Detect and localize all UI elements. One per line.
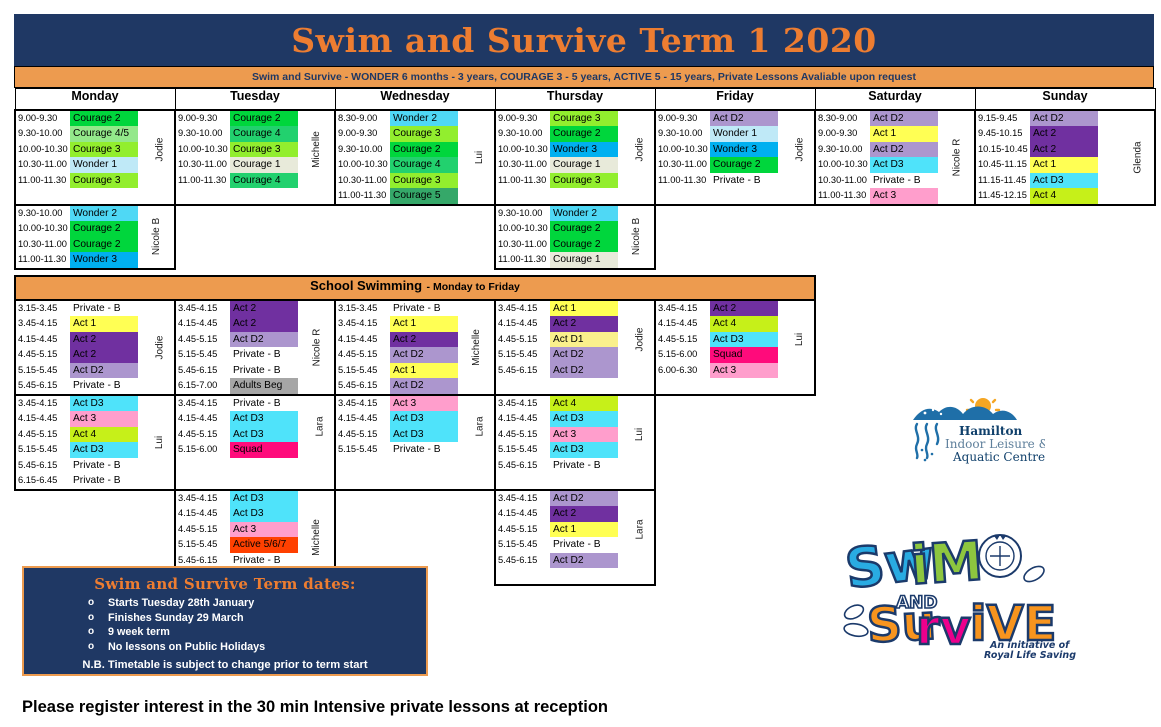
session-time: 4.45-5.15 xyxy=(16,347,70,363)
day-cell-saturday xyxy=(815,300,975,395)
session-row[interactable]: 3.45-4.15Act 3 xyxy=(336,396,466,412)
session-time: 5.45-6.15 xyxy=(16,458,70,474)
session-class: Courage 2 xyxy=(550,237,618,253)
session-class: Act 2 xyxy=(230,316,298,332)
day-cell-wednesday xyxy=(335,205,495,269)
timetable: MondayTuesdayWednesdayThursdayFridaySatu… xyxy=(14,88,1156,586)
session-time: 4.15-4.45 xyxy=(16,411,70,427)
session-row[interactable]: 3.15-3.45Private - B xyxy=(336,301,458,317)
timetable-page: Swim and Survive Term 1 2020 Swim and Su… xyxy=(0,0,1161,727)
session-class: Act 1 xyxy=(390,316,458,332)
session-row[interactable]: 10.00-10.30Wonder 3 xyxy=(656,142,786,158)
session-class: Act 2 xyxy=(390,332,458,348)
session-time: 9.30-10.00 xyxy=(816,142,870,158)
school-swimming-title: School Swimming xyxy=(310,278,422,293)
session-row[interactable]: 5.15-5.45Private - B xyxy=(336,442,466,458)
session-row[interactable]: 9.30-10.00Courage 2 xyxy=(496,126,626,142)
session-time: 10.30-11.00 xyxy=(656,157,710,173)
session-row[interactable]: 9.15-9.45Act D2 xyxy=(976,111,1122,127)
session-class: Act D2 xyxy=(230,332,298,348)
day-cell-friday xyxy=(655,490,815,585)
session-time: 11.15-11.45 xyxy=(976,173,1030,189)
term-dates-title: Swim and Survive Term dates: xyxy=(30,575,420,593)
session-row[interactable]: 5.45-6.15Act D2 xyxy=(496,363,626,379)
session-row[interactable]: 5.15-5.45Active 5/6/7 xyxy=(176,537,298,553)
session-row[interactable]: 3.15-3.45Private - B xyxy=(16,301,146,317)
hamilton-logo-line1: Hamilton xyxy=(959,424,1022,438)
session-row[interactable]: 4.15-4.45Act D3 xyxy=(176,411,306,427)
session-row[interactable]: 4.45-5.15Act 3 xyxy=(176,522,298,538)
hamilton-logo-line2: Indoor Leisure & xyxy=(945,437,1045,451)
session-row[interactable]: 8.30-9.00Wonder 2 xyxy=(336,111,466,127)
day-cell-monday: 9.00-9.30Courage 29.30-10.00Courage 4/51… xyxy=(15,110,175,205)
day-cell-thursday: 3.45-4.15Act D24.15-4.45Act 24.45-5.15Ac… xyxy=(495,490,655,585)
session-class: Courage 2 xyxy=(390,142,458,158)
session-time: 4.15-4.45 xyxy=(336,332,390,348)
session-time: 10.30-11.00 xyxy=(176,157,230,173)
day-cell-friday xyxy=(655,395,815,490)
session-time: 11.00-11.30 xyxy=(496,252,550,268)
session-row[interactable]: 3.45-4.15Act 1 xyxy=(16,316,146,332)
session-row[interactable]: 5.45-6.15Private - B xyxy=(496,458,626,474)
session-class: Courage 4 xyxy=(390,157,458,173)
day-cell-saturday: 8.30-9.00Act D29.00-9.30Act 19.30-10.00A… xyxy=(815,110,975,205)
session-row[interactable]: 11.00-11.30Courage 4 xyxy=(176,173,298,189)
session-row[interactable]: 4.45-5.15Act D3 xyxy=(656,332,786,348)
session-time: 9.00-9.30 xyxy=(176,111,230,127)
day-cell-thursday: 3.45-4.15Act 14.15-4.45Act 24.45-5.15Act… xyxy=(495,300,655,395)
session-row[interactable]: 5.15-5.45Act D3 xyxy=(16,442,146,458)
session-row[interactable]: 3.45-4.15Act 2 xyxy=(176,301,298,317)
session-row[interactable]: 5.15-5.45Private - B xyxy=(496,537,626,553)
session-row[interactable]: 5.15-6.00Squad xyxy=(656,347,786,363)
session-time: 11.00-11.30 xyxy=(816,188,870,204)
session-time: 10.00-10.30 xyxy=(336,157,390,173)
session-time: 4.45-5.15 xyxy=(656,332,710,348)
session-row[interactable]: 9.45-10.15Act 2 xyxy=(976,126,1122,142)
session-time: 10.00-10.30 xyxy=(176,142,230,158)
session-row[interactable]: 10.45-11.15Act 1 xyxy=(976,157,1122,173)
session-class: Courage 2 xyxy=(230,111,298,127)
session-time: 3.15-3.45 xyxy=(16,301,70,317)
session-time: 11.00-11.30 xyxy=(176,173,230,189)
session-row[interactable]: 11.15-11.45Act D3 xyxy=(976,173,1122,189)
session-class: Act 2 xyxy=(550,316,618,332)
session-class: Courage 1 xyxy=(550,157,618,173)
session-row[interactable]: 10.30-11.00Courage 1 xyxy=(176,157,298,173)
session-time: 5.45-6.15 xyxy=(176,363,230,379)
session-time: 9.00-9.30 xyxy=(816,126,870,142)
session-time: 10.30-11.00 xyxy=(336,173,390,189)
session-row[interactable]: 3.45-4.15Act 1 xyxy=(496,301,626,317)
session-row[interactable]: 4.45-5.15Act 1 xyxy=(496,522,626,538)
session-class: Act 2 xyxy=(1030,142,1098,158)
session-time: 6.15-6.45 xyxy=(16,473,70,489)
day-cell-sunday xyxy=(975,205,1155,269)
session-class: Private - B xyxy=(70,473,138,489)
session-row[interactable]: 6.00-6.30Act 3 xyxy=(656,363,786,379)
session-row[interactable]: 4.15-4.45Act D3 xyxy=(176,506,298,522)
session-time: 9.30-10.00 xyxy=(176,126,230,142)
session-time: 10.30-11.00 xyxy=(496,157,550,173)
session-row[interactable]: 6.15-6.45Private - B xyxy=(16,473,146,489)
session-row[interactable]: 10.30-11.00Courage 2 xyxy=(656,157,786,173)
session-row[interactable]: 4.45-5.15Act 2 xyxy=(16,347,146,363)
session-time: 5.15-6.00 xyxy=(176,442,230,458)
session-class: Adults Beg xyxy=(230,378,298,394)
session-row[interactable]: 4.45-5.15Act D2 xyxy=(336,347,458,363)
session-class: Courage 3 xyxy=(550,173,618,189)
session-row[interactable]: 4.15-4.45Act D3 xyxy=(336,411,466,427)
session-time: 9.15-9.45 xyxy=(976,111,1030,127)
session-row[interactable]: 4.15-4.45Act D3 xyxy=(496,411,626,427)
day-header-monday: Monday xyxy=(15,89,175,110)
session-row[interactable]: 4.15-4.45Act 4 xyxy=(656,316,786,332)
session-class: Act D3 xyxy=(1030,173,1098,189)
session-class: Private - B xyxy=(70,301,138,317)
session-class: Act D2 xyxy=(70,363,138,379)
session-class: Act D3 xyxy=(710,332,778,348)
instructor-name: Nicole B xyxy=(618,206,655,268)
session-class: Act 3 xyxy=(230,522,298,538)
session-time: 9.30-10.00 xyxy=(16,206,70,222)
session-row[interactable]: 3.45-4.15Act 4 xyxy=(496,396,626,412)
session-class: Act D2 xyxy=(1030,111,1098,127)
instructor-name: Jodie xyxy=(146,111,174,189)
session-row[interactable]: 9.00-9.30Act D2 xyxy=(656,111,786,127)
session-row[interactable]: 10.30-11.00Courage 1 xyxy=(496,157,626,173)
session-class: Courage 2 xyxy=(70,237,138,253)
session-row[interactable]: 11.45-12.15Act 4 xyxy=(976,188,1122,204)
session-class: Act 4 xyxy=(70,427,138,443)
page-title: Swim and Survive Term 1 2020 xyxy=(291,21,877,60)
session-time: 9.30-10.00 xyxy=(16,126,70,142)
session-row[interactable]: 5.15-5.45Act D2 xyxy=(496,347,626,363)
session-class: Squad xyxy=(230,442,298,458)
hamilton-logo-line3: Aquatic Centre xyxy=(952,450,1045,464)
session-class: Private - B xyxy=(230,347,298,363)
day-cell-wednesday: 8.30-9.00Wonder 29.00-9.30Courage 39.30-… xyxy=(335,110,495,205)
session-row[interactable]: 4.15-4.45Act 2 xyxy=(176,316,298,332)
session-time: 9.30-10.00 xyxy=(336,142,390,158)
session-row[interactable]: 10.00-10.30Wonder 3 xyxy=(496,142,626,158)
session-row[interactable]: 4.45-5.15Act D3 xyxy=(176,427,306,443)
session-row[interactable]: 11.00-11.30Act 3 xyxy=(816,188,938,204)
session-time: 9.00-9.30 xyxy=(16,111,70,127)
session-row[interactable]: 3.45-4.15Act D3 xyxy=(176,491,298,507)
session-time: 3.45-4.15 xyxy=(496,491,550,507)
session-time: 5.15-5.45 xyxy=(336,363,390,379)
session-time: 4.15-4.45 xyxy=(176,506,230,522)
session-time: 3.45-4.15 xyxy=(496,396,550,412)
instructor-name: Lara xyxy=(466,396,494,458)
session-time: 4.15-4.45 xyxy=(496,411,550,427)
session-time: 10.45-11.15 xyxy=(976,157,1030,173)
day-header-thursday: Thursday xyxy=(495,89,655,110)
session-row[interactable]: 3.45-4.15Act 2 xyxy=(656,301,786,317)
session-class: Act D2 xyxy=(390,347,458,363)
session-class: Act D2 xyxy=(550,363,618,379)
session-class: Wonder 3 xyxy=(710,142,778,158)
session-row[interactable]: 9.30-10.00Wonder 2 xyxy=(16,206,138,222)
day-header-sunday: Sunday xyxy=(975,89,1155,110)
session-row[interactable]: 6.15-7.00Adults Beg xyxy=(176,378,298,394)
session-time: 10.00-10.30 xyxy=(16,221,70,237)
session-class: Act D3 xyxy=(230,506,298,522)
session-class: Act 1 xyxy=(1030,157,1098,173)
session-time: 4.15-4.45 xyxy=(16,332,70,348)
session-row[interactable]: 5.45-6.15Private - B xyxy=(16,458,146,474)
session-row[interactable]: 5.15-5.45Private - B xyxy=(176,347,298,363)
session-row[interactable]: 5.15-5.45Act D3 xyxy=(496,442,626,458)
session-row[interactable]: 9.00-9.30Courage 3 xyxy=(336,126,466,142)
session-row[interactable]: 9.00-9.30Courage 2 xyxy=(176,111,298,127)
session-class: Wonder 3 xyxy=(550,142,618,158)
session-row[interactable]: 10.00-10.30Courage 2 xyxy=(496,221,618,237)
session-row[interactable]: 9.00-9.30Courage 3 xyxy=(496,111,626,127)
day-cell-sunday: 9.15-9.45Act D29.45-10.15Act 210.15-10.4… xyxy=(975,110,1155,205)
session-time: 11.00-11.30 xyxy=(16,173,70,189)
session-class: Act 4 xyxy=(550,396,618,412)
session-time: 4.15-4.45 xyxy=(336,411,390,427)
session-row[interactable]: 4.15-4.45Act 3 xyxy=(16,411,146,427)
session-time: 4.15-4.45 xyxy=(176,411,230,427)
session-time: 5.15-5.45 xyxy=(16,442,70,458)
session-time: 5.15-5.45 xyxy=(176,537,230,553)
session-row[interactable]: 11.00-11.30Courage 1 xyxy=(496,252,618,268)
day-cell-friday: 9.00-9.30Act D29.30-10.00Wonder 110.00-1… xyxy=(655,110,815,205)
session-time: 3.45-4.15 xyxy=(16,396,70,412)
session-row[interactable]: 4.15-4.45Act 2 xyxy=(16,332,146,348)
session-row[interactable]: 5.15-5.45Act 1 xyxy=(336,363,458,379)
session-row[interactable]: 4.15-4.45Act 2 xyxy=(496,506,626,522)
day-header-saturday: Saturday xyxy=(815,89,975,110)
session-row[interactable]: 9.30-10.00Courage 4/5 xyxy=(16,126,146,142)
session-class: Wonder 1 xyxy=(70,157,138,173)
session-class: Act D3 xyxy=(230,411,298,427)
session-row[interactable]: 9.30-10.00Wonder 1 xyxy=(656,126,786,142)
session-row[interactable]: 3.45-4.15Act D2 xyxy=(496,491,626,507)
session-class: Courage 3 xyxy=(70,173,138,189)
session-time: 4.45-5.15 xyxy=(176,332,230,348)
session-class: Squad xyxy=(710,347,778,363)
session-row[interactable]: 4.45-5.15Act D1 xyxy=(496,332,626,348)
session-row[interactable]: 10.15-10.45Act 2 xyxy=(976,142,1122,158)
session-class: Courage 2 xyxy=(70,111,138,127)
session-time: 6.15-7.00 xyxy=(176,378,230,394)
session-class: Act 1 xyxy=(550,301,618,317)
session-row[interactable]: 10.30-11.00Wonder 1 xyxy=(16,157,146,173)
session-class: Private - B xyxy=(550,537,618,553)
day-cell-wednesday: 3.45-4.15Act 34.15-4.45Act D34.45-5.15Ac… xyxy=(335,395,495,490)
term-date-item: No lessons on Public Holidays xyxy=(30,640,420,655)
instructor-name: Jodie xyxy=(626,111,654,189)
session-time: 3.15-3.45 xyxy=(336,301,390,317)
session-row[interactable]: 3.45-4.15Act 1 xyxy=(336,316,458,332)
session-class: Act D3 xyxy=(70,396,138,412)
royal-life-saving-crest-icon xyxy=(979,535,1021,577)
session-time: 10.00-10.30 xyxy=(496,142,550,158)
session-class: Courage 3 xyxy=(390,173,458,189)
session-time: 4.15-4.45 xyxy=(176,316,230,332)
session-row[interactable]: 4.45-5.15Act D2 xyxy=(176,332,298,348)
session-class: Act 3 xyxy=(710,363,778,379)
session-time: 9.30-10.00 xyxy=(496,126,550,142)
session-row[interactable]: 5.15-6.00Squad xyxy=(176,442,306,458)
session-time: 5.45-6.15 xyxy=(496,363,550,379)
session-time: 3.45-4.15 xyxy=(176,301,230,317)
session-time: 11.00-11.30 xyxy=(16,252,70,268)
session-class: Courage 1 xyxy=(230,157,298,173)
morning-session-row-2: 9.30-10.00Wonder 210.00-10.30Courage 210… xyxy=(15,205,1155,269)
day-cell-friday: 3.45-4.15Act 24.15-4.45Act 44.45-5.15Act… xyxy=(655,300,815,395)
session-class: Act 2 xyxy=(550,506,618,522)
session-row[interactable]: 10.00-10.30Act D3 xyxy=(816,157,938,173)
instructor-name: Lui xyxy=(466,111,494,204)
session-row[interactable]: 5.45-6.15Act D2 xyxy=(496,553,626,569)
session-row[interactable]: 11.00-11.30Wonder 3 xyxy=(16,252,138,268)
session-row[interactable]: 5.15-5.45Act D2 xyxy=(16,363,146,379)
session-row[interactable]: 4.45-5.15Act 4 xyxy=(16,427,146,443)
session-row[interactable]: 10.30-11.00Courage 2 xyxy=(496,237,618,253)
session-row[interactable]: 10.30-11.00Courage 2 xyxy=(16,237,138,253)
session-time: 4.15-4.45 xyxy=(496,506,550,522)
session-row[interactable]: 11.00-11.30Private - B xyxy=(656,173,786,189)
session-time: 10.00-10.30 xyxy=(496,221,550,237)
day-cell-tuesday: 3.45-4.15Act 24.15-4.45Act 24.45-5.15Act… xyxy=(175,300,335,395)
session-row[interactable]: 4.15-4.45Act 2 xyxy=(336,332,458,348)
session-row[interactable]: 10.00-10.30Courage 2 xyxy=(16,221,138,237)
session-row[interactable]: 10.00-10.30Courage 4 xyxy=(336,157,466,173)
session-time: 10.15-10.45 xyxy=(976,142,1030,158)
session-time: 10.30-11.00 xyxy=(816,173,870,189)
session-row[interactable]: 3.45-4.15Act D3 xyxy=(16,396,146,412)
session-time: 11.00-11.30 xyxy=(496,173,550,189)
session-time: 5.15-5.45 xyxy=(496,537,550,553)
session-time: 5.45-6.15 xyxy=(496,458,550,474)
session-row[interactable]: 10.00-10.30Courage 3 xyxy=(176,142,298,158)
session-time: 3.45-4.15 xyxy=(16,316,70,332)
session-class: Private - B xyxy=(390,442,458,458)
day-header-tuesday: Tuesday xyxy=(175,89,335,110)
session-row[interactable]: 5.45-6.15Private - B xyxy=(176,363,298,379)
instructor-name: Nicole R xyxy=(938,111,976,204)
session-row[interactable]: 8.30-9.00Act D2 xyxy=(816,111,938,127)
session-class: Private - B xyxy=(550,458,618,474)
school-swimming-subtitle: - Monday to Friday xyxy=(427,281,520,293)
session-row[interactable]: 9.30-10.00Courage 4 xyxy=(176,126,298,142)
instructor-name: Lui xyxy=(146,396,174,489)
session-class: Act 1 xyxy=(70,316,138,332)
session-row[interactable]: 11.00-11.30Courage 5 xyxy=(336,188,466,204)
session-row[interactable]: 5.45-6.15Private - B xyxy=(16,378,146,394)
session-time: 5.45-6.15 xyxy=(336,378,390,394)
session-class: Courage 4/5 xyxy=(70,126,138,142)
session-class: Act 3 xyxy=(70,411,138,427)
day-header-friday: Friday xyxy=(655,89,815,110)
day-cell-thursday: 9.00-9.30Courage 39.30-10.00Courage 210.… xyxy=(495,110,655,205)
session-time: 3.45-4.15 xyxy=(336,396,390,412)
session-time: 4.45-5.15 xyxy=(336,427,390,443)
school-swimming-row: School Swimming - Monday to Friday xyxy=(15,276,1155,300)
session-row[interactable]: 5.45-6.15Act D2 xyxy=(336,378,458,394)
session-class: Courage 2 xyxy=(70,221,138,237)
session-class: Act D2 xyxy=(390,378,458,394)
session-class: Wonder 2 xyxy=(70,206,138,222)
logo-word-rv: rv xyxy=(916,600,971,656)
session-class: Courage 3 xyxy=(390,126,458,142)
session-class: Act D2 xyxy=(550,347,618,363)
session-class: Act 2 xyxy=(70,347,138,363)
day-cell-friday xyxy=(655,205,815,269)
session-row[interactable]: 10.30-11.00Courage 3 xyxy=(336,173,466,189)
session-time: 3.45-4.15 xyxy=(176,396,230,412)
instructor-name: Jodie xyxy=(786,111,814,189)
session-class: Act D2 xyxy=(870,142,938,158)
footer-note: Please register interest in the 30 min I… xyxy=(22,698,608,717)
instructor-name: Nicole R xyxy=(298,301,336,394)
session-time: 9.30-10.00 xyxy=(656,126,710,142)
session-time: 6.00-6.30 xyxy=(656,363,710,379)
session-row[interactable]: 4.45-5.15Act 3 xyxy=(496,427,626,443)
session-class: Courage 3 xyxy=(70,142,138,158)
session-class: Private - B xyxy=(70,458,138,474)
session-class: Act D3 xyxy=(390,411,458,427)
day-cell-wednesday: 3.15-3.45Private - B3.45-4.15Act 14.15-4… xyxy=(335,300,495,395)
session-time: 8.30-9.00 xyxy=(816,111,870,127)
session-class: Wonder 2 xyxy=(390,111,458,127)
session-class: Act D2 xyxy=(550,553,618,569)
session-time: 11.00-11.30 xyxy=(336,188,390,204)
school-swimming-banner: School Swimming - Monday to Friday xyxy=(15,276,815,300)
instructor-name: Lara xyxy=(306,396,334,458)
session-row[interactable]: 4.45-5.15Act D3 xyxy=(336,427,466,443)
session-class: Courage 2 xyxy=(710,157,778,173)
swim-and-survive-logo: Sw iM AND Su rv iVE An initiative of Roy… xyxy=(838,530,1078,660)
session-time: 3.45-4.15 xyxy=(336,316,390,332)
instructor-name: Jodie xyxy=(626,301,654,379)
session-class: Act D3 xyxy=(390,427,458,443)
session-row[interactable]: 9.00-9.30Act 1 xyxy=(816,126,938,142)
instructor-name: Lara xyxy=(626,491,654,569)
session-row[interactable]: 9.30-10.00Wonder 2 xyxy=(496,206,618,222)
term-date-item: 9 week term xyxy=(30,625,420,640)
session-time: 4.45-5.15 xyxy=(496,332,550,348)
day-cell-tuesday xyxy=(175,205,335,269)
session-class: Private - B xyxy=(70,378,138,394)
session-class: Act D3 xyxy=(870,157,938,173)
session-row[interactable]: 4.15-4.45Act 2 xyxy=(496,316,626,332)
session-row[interactable]: 11.00-11.30Courage 3 xyxy=(16,173,146,189)
session-row[interactable]: 11.00-11.30Courage 3 xyxy=(496,173,626,189)
session-row[interactable]: 9.30-10.00Act D2 xyxy=(816,142,938,158)
session-row[interactable]: 10.30-11.00Private - B xyxy=(816,173,938,189)
session-row[interactable]: 9.30-10.00Courage 2 xyxy=(336,142,466,158)
term-date-item: Finishes Sunday 29 March xyxy=(30,611,420,626)
session-class: Act 1 xyxy=(550,522,618,538)
session-time: 10.00-10.30 xyxy=(16,142,70,158)
session-row[interactable]: 9.00-9.30Courage 2 xyxy=(16,111,146,127)
session-row[interactable]: 3.45-4.15Private - B xyxy=(176,396,306,412)
day-cell-saturday xyxy=(815,205,975,269)
instructor-name: Michelle xyxy=(298,111,335,189)
session-time: 5.15-5.45 xyxy=(176,347,230,363)
day-cell-monday: 9.30-10.00Wonder 210.00-10.30Courage 210… xyxy=(15,205,175,269)
spacer-cell xyxy=(15,269,1155,276)
session-row[interactable]: 10.00-10.30Courage 3 xyxy=(16,142,146,158)
session-time: 10.30-11.00 xyxy=(16,157,70,173)
session-class: Wonder 1 xyxy=(710,126,778,142)
